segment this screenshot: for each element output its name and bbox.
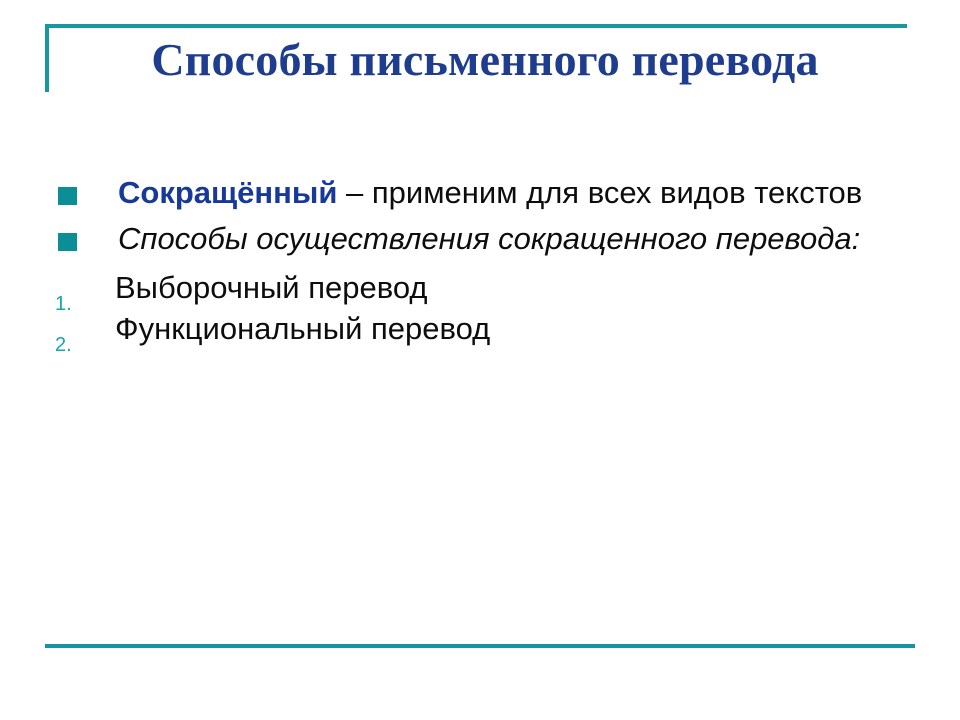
list-item-label: Способы осуществления сокращенного перев… — [118, 218, 928, 259]
list-item-label: Функциональный перевод — [115, 310, 928, 349]
bottom-rule-line — [45, 644, 915, 648]
list-item-label: Сокращённый – применим для всех видов те… — [118, 172, 928, 213]
page-title: Способы письменного перевода — [60, 34, 910, 86]
list-item: 1. Выборочный перевод — [48, 269, 928, 308]
list-item: 2. Функциональный перевод — [48, 310, 928, 349]
square-bullet-icon — [58, 218, 77, 251]
list-number: 1. — [58, 269, 95, 314]
list-item: Сокращённый – применим для всех видов те… — [48, 172, 928, 213]
list-item-label: Выборочный перевод — [115, 269, 928, 308]
left-rule-line — [45, 24, 49, 92]
list-item-rest: – применим для всех видов текстов — [337, 175, 862, 210]
square-bullet-icon — [58, 172, 77, 205]
top-rule-line — [45, 24, 907, 28]
list-number-label: 2. — [55, 335, 95, 355]
content-list: Сокращённый – применим для всех видов те… — [48, 172, 928, 351]
emphasis-text: Сокращённый — [118, 175, 337, 210]
list-number: 2. — [58, 310, 95, 355]
list-item: Способы осуществления сокращенного перев… — [48, 218, 928, 259]
slide: Способы письменного перевода Сокращённый… — [0, 0, 960, 720]
